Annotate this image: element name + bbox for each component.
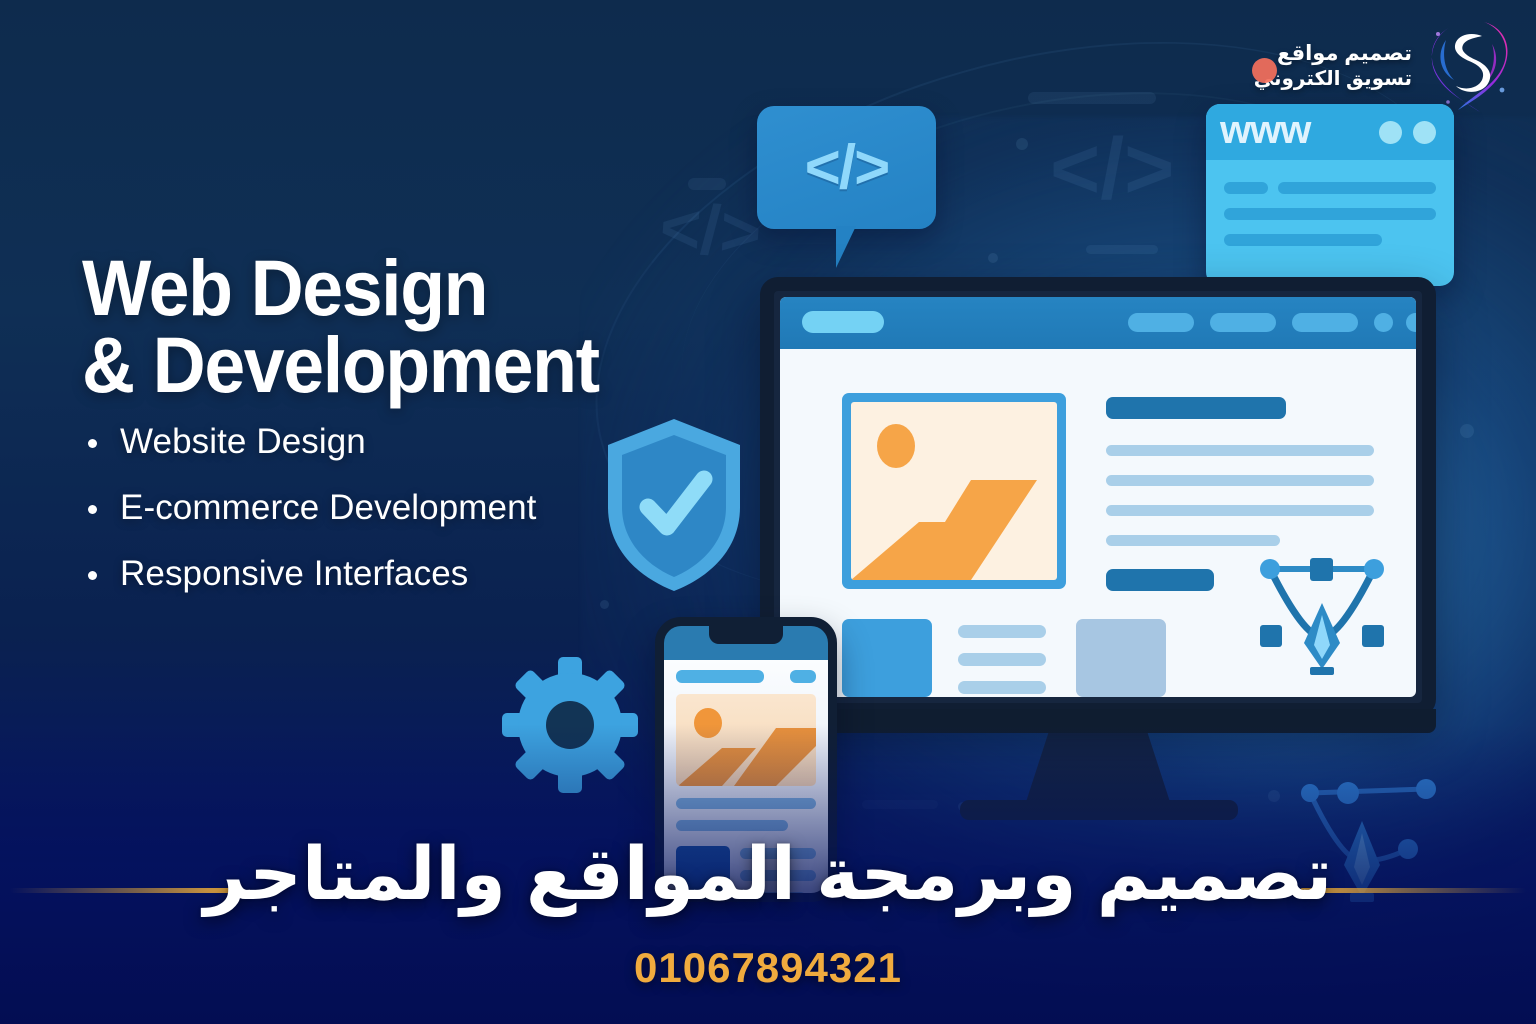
pen-tool-icon <box>1252 541 1392 681</box>
browser-nav-pill-1[interactable] <box>1128 313 1194 332</box>
brand-name: تصميم مواقع تسويق الكتروني <box>1254 41 1412 91</box>
decorative-dot-6 <box>1460 424 1474 438</box>
headline-line-2: & Development <box>82 326 733 403</box>
mountain-large-left <box>909 480 971 580</box>
card-text-line-1 <box>958 625 1046 638</box>
mountain-large-right <box>971 480 1037 580</box>
card-block-2 <box>1076 619 1166 697</box>
card-block-1 <box>842 619 932 697</box>
content-text-line-1 <box>1106 445 1374 456</box>
code-bubble-glyph: </> <box>757 106 936 229</box>
decorative-dot <box>1016 138 1028 150</box>
content-text-line-2 <box>1106 475 1374 486</box>
decorative-dot-2 <box>988 253 998 263</box>
www-card-line-2 <box>1278 182 1436 194</box>
www-label: www <box>1220 108 1310 153</box>
sun-shape <box>877 424 915 468</box>
www-card-line-1 <box>1224 182 1268 194</box>
monitor-screen <box>780 297 1416 697</box>
card-text-line-2 <box>958 653 1046 666</box>
hero-image-inner <box>851 402 1057 580</box>
page-title: Web Design & Development <box>82 249 733 404</box>
decorative-pill <box>1028 92 1156 104</box>
browser-icon-circle-1[interactable] <box>1374 313 1393 332</box>
browser-logo-pill <box>802 311 884 333</box>
www-card-line-3 <box>1224 208 1436 220</box>
poster-canvas: </> </> تصميم مواقع تسويق الكتروني <box>0 0 1536 1024</box>
contact-phone-number[interactable]: 01067894321 <box>0 944 1536 992</box>
www-card-circle-2 <box>1413 121 1436 144</box>
browser-nav-pill-3[interactable] <box>1292 313 1358 332</box>
browser-bar <box>780 297 1416 349</box>
www-card-line-4 <box>1224 234 1382 246</box>
swirl-s-logo-icon <box>1422 14 1514 118</box>
brand-name-line1: تصميم مواقع <box>1254 41 1412 67</box>
headline-line-1: Web Design <box>82 243 487 332</box>
phone-header-button[interactable] <box>790 670 816 683</box>
service-list: Website Design E-commerce Development Re… <box>76 424 716 622</box>
content-text-line-3 <box>1106 505 1374 516</box>
code-bubble-tail <box>836 226 869 268</box>
browser-nav-pill-2[interactable] <box>1210 313 1276 332</box>
content-heading-bar <box>1106 397 1286 419</box>
decorative-pill-3 <box>1086 245 1158 254</box>
arabic-headline: تصميم وبرمجة المواقع والمتاجر <box>0 838 1536 911</box>
card-text-line-3 <box>958 681 1046 694</box>
cta-button-shape[interactable] <box>1106 569 1214 591</box>
www-card-circle-1 <box>1379 121 1402 144</box>
list-item: Website Design <box>76 424 716 459</box>
phone-header-pill <box>676 670 764 683</box>
logo-accent-dot <box>1252 58 1277 83</box>
code-bubble-icon: </> <box>757 106 936 229</box>
www-browser-card: www <box>1206 104 1454 286</box>
code-watermark-icon-2: </> <box>1050 120 1174 219</box>
brand-name-line2: تسويق الكتروني <box>1254 67 1412 91</box>
desktop-monitor <box>760 277 1436 717</box>
decorative-pill-2 <box>688 178 726 190</box>
phone-notch <box>709 626 783 644</box>
brand-logo[interactable]: تصميم مواقع تسويق الكتروني <box>1254 14 1514 118</box>
hero-image-placeholder <box>842 393 1066 589</box>
list-item: Responsive Interfaces <box>76 556 716 591</box>
browser-icon-circle-2[interactable] <box>1406 313 1416 332</box>
list-item: E-commerce Development <box>76 490 716 525</box>
www-card-bar: www <box>1206 104 1454 160</box>
